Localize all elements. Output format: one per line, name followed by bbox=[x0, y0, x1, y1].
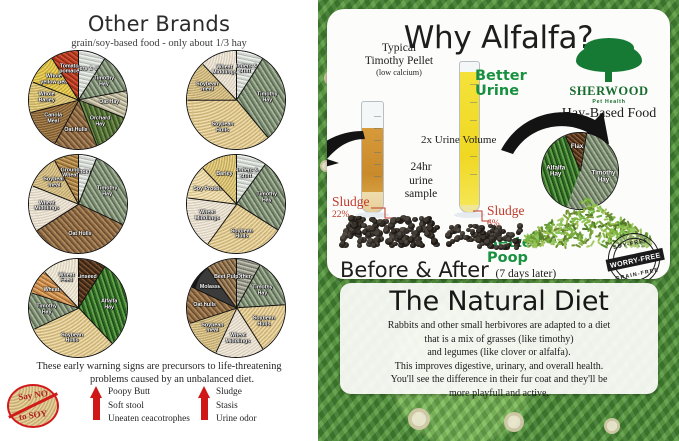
fecal-pellet bbox=[514, 246, 519, 250]
pie-chart: Binders & stuffTimothy HaySoybean HullsS… bbox=[186, 50, 286, 150]
pie-divider bbox=[78, 259, 79, 308]
fecal-pellet bbox=[408, 237, 414, 243]
brand-pie-5: LinseedAlfalfa HaySoybean HullsTimothy H… bbox=[14, 258, 142, 362]
warning-line-1: These early warning signs are precursors… bbox=[36, 361, 281, 372]
fecal-pellet bbox=[419, 243, 425, 248]
pie-chart: BindersTimothy HayOat HullsWheat Middlin… bbox=[28, 154, 128, 254]
sludge-word-left: Sludge bbox=[332, 194, 370, 210]
alfalfa-pellet bbox=[571, 244, 575, 247]
pie-divider bbox=[236, 155, 237, 204]
pie-divider bbox=[78, 51, 79, 100]
fecal-pellet bbox=[450, 230, 455, 234]
pie-chart: Binders & stuffTimothy HaySoybean HullsW… bbox=[186, 154, 286, 254]
alfalfa-pellet bbox=[586, 245, 591, 248]
clover-flower-5 bbox=[504, 412, 524, 432]
fecal-pellet bbox=[506, 237, 511, 242]
natural-diet-title: The Natural Diet bbox=[340, 286, 658, 317]
comparison-arrow-icon bbox=[327, 129, 367, 173]
pie-chart: LinseedAlfalfa HaySoybean HullsTimothy H… bbox=[28, 258, 128, 358]
fecal-pellet bbox=[497, 236, 504, 242]
fecal-pellet bbox=[412, 217, 418, 222]
natural-diet-card: The Natural Diet Rabbits and other small… bbox=[340, 283, 658, 394]
other-brands-panel: Other Brands grain/soy-based food - only… bbox=[0, 0, 318, 441]
pie-wrapper: LinseedAlfalfa HaySoybean HullsTimothy H… bbox=[28, 258, 128, 358]
pie-divider bbox=[236, 51, 237, 100]
fecal-pellet bbox=[494, 245, 499, 250]
brand-pie-grid: Binders & stuffTimothy HayOat HayOrchard… bbox=[0, 50, 318, 360]
natural-diet-body: Rabbits and other small herbivores are a… bbox=[340, 319, 658, 400]
fecal-pellet bbox=[351, 223, 358, 230]
fecal-pellet bbox=[395, 217, 402, 223]
better-urine-label: Better Urine bbox=[475, 69, 527, 98]
fecal-pellet bbox=[371, 243, 377, 249]
pie-wrapper: OtherTimothy HaySoybean HullsWheat Middl… bbox=[186, 258, 286, 358]
up-arrow-icon-1 bbox=[90, 386, 103, 420]
fecal-pellet bbox=[356, 230, 362, 235]
fecal-pellet bbox=[454, 236, 461, 242]
fecal-pellet bbox=[456, 228, 461, 233]
before-after-text: Before & After bbox=[340, 258, 489, 282]
why-alfalfa-card: Why Alfalfa? Typical Timothy Pellet (low… bbox=[327, 9, 670, 279]
clover-flower-6 bbox=[604, 418, 620, 434]
alfalfa-pellet bbox=[563, 241, 567, 247]
pie-divider bbox=[236, 259, 237, 308]
fecal-pellet bbox=[476, 228, 482, 233]
fecal-pellet bbox=[470, 231, 475, 235]
urine-volume-label: 2x Urine Volume bbox=[421, 134, 496, 146]
warning-list-left: Poopy Butt Soft stool Uneaten ceacotroph… bbox=[108, 386, 190, 427]
why-alfalfa-panel: Why Alfalfa? Typical Timothy Pellet (low… bbox=[318, 0, 679, 441]
fecal-pellet bbox=[340, 241, 345, 246]
typical-pellet-caption: Typical Timothy Pellet (low calcium) bbox=[345, 42, 453, 77]
fecal-pellet bbox=[404, 216, 412, 223]
fecal-pellet bbox=[366, 232, 371, 237]
typical-line-2: Timothy Pellet bbox=[345, 55, 453, 68]
before-after-note: (7 days later) bbox=[496, 268, 557, 280]
clover-flower-4 bbox=[408, 408, 430, 430]
fecal-pellet bbox=[469, 238, 474, 242]
up-arrow-icon-2 bbox=[198, 386, 211, 420]
warning-line-2: problems caused by an unbalanced diet. bbox=[26, 374, 318, 387]
pie-divider bbox=[78, 155, 79, 204]
fecal-pellet bbox=[484, 239, 491, 245]
pie-slice-label: Timothy Hay bbox=[584, 171, 619, 184]
fecal-pellet bbox=[377, 219, 383, 224]
fecal-pellet bbox=[431, 238, 439, 245]
fecal-pellet bbox=[348, 235, 353, 240]
brand-pie-2: Binders & stuffTimothy HaySoybean HullsS… bbox=[172, 50, 300, 154]
say-no-to-soy-stamp: Say NO to SOY bbox=[4, 383, 62, 429]
brand-pie-1: Binders & stuffTimothy HayOat HayOrchard… bbox=[14, 50, 142, 154]
pie-wrapper: Binders & stuffTimothy HayOat HayOrchard… bbox=[28, 50, 128, 150]
fecal-pellet bbox=[408, 223, 415, 229]
pie-chart: Binders & stuffTimothy HayOat HayOrchard… bbox=[28, 50, 128, 150]
fecal-pellet bbox=[494, 229, 500, 234]
fecal-pellet bbox=[410, 243, 415, 248]
fecal-pellet bbox=[517, 223, 523, 229]
alfalfa-pellet bbox=[595, 215, 602, 219]
page-subtitle: grain/soy-based food - only about 1/3 ha… bbox=[0, 38, 318, 49]
fecal-pellet bbox=[508, 232, 515, 238]
fecal-pellet bbox=[374, 231, 381, 237]
fecal-pellet bbox=[357, 239, 363, 244]
pie-divider bbox=[188, 99, 237, 100]
brand-name: SHERWOOD bbox=[548, 84, 670, 99]
urine-sample-label: 24hr urine sample bbox=[391, 161, 451, 202]
alfalfa-pellet bbox=[565, 210, 568, 215]
fecal-pellet bbox=[423, 217, 430, 224]
poop-pile-before bbox=[339, 215, 443, 249]
fecal-pellet bbox=[356, 216, 362, 221]
pie-chart: OtherTimothy HaySoybean HullsWheat Middl… bbox=[186, 258, 286, 358]
infographic-root: Other Brands grain/soy-based food - only… bbox=[0, 0, 679, 441]
fecal-pellet bbox=[340, 235, 347, 241]
tree-icon bbox=[576, 43, 642, 83]
typical-note: (low calcium) bbox=[345, 68, 453, 77]
fecal-pellet bbox=[463, 235, 468, 239]
page-title: Other Brands bbox=[0, 12, 318, 36]
sludge-leader-right bbox=[473, 209, 493, 223]
poop-pile-after bbox=[445, 223, 523, 251]
alfalfa-pellet bbox=[555, 232, 563, 235]
brand-pie-3: BindersTimothy HayOat HullsWheat Middlin… bbox=[14, 154, 142, 258]
fecal-pellet bbox=[427, 226, 434, 232]
pie-wrapper: BindersTimothy HayOat HullsWheat Middlin… bbox=[28, 154, 128, 254]
pie-wrapper: Binders & stuffTimothy HaySoybean HullsS… bbox=[186, 50, 286, 150]
pie-wrapper: Binders & stuffTimothy HaySoybean HullsW… bbox=[186, 154, 286, 254]
typical-line-1: Typical bbox=[345, 42, 453, 55]
before-after-heading: Before & After (7 days later) bbox=[340, 258, 556, 282]
alfalfa-pellet bbox=[583, 209, 585, 213]
warning-list-right: Sludge Stasis Urine odor bbox=[216, 386, 257, 427]
fecal-pellet bbox=[357, 243, 362, 247]
alfalfa-pellet bbox=[589, 229, 592, 237]
brand-pie-6: OtherTimothy HaySoybean HullsWheat Middl… bbox=[172, 258, 300, 362]
brand-pie-4: Binders & stuffTimothy HaySoybean HullsW… bbox=[172, 154, 300, 258]
pie-slice-label: Alfalfa Hay bbox=[541, 165, 576, 178]
